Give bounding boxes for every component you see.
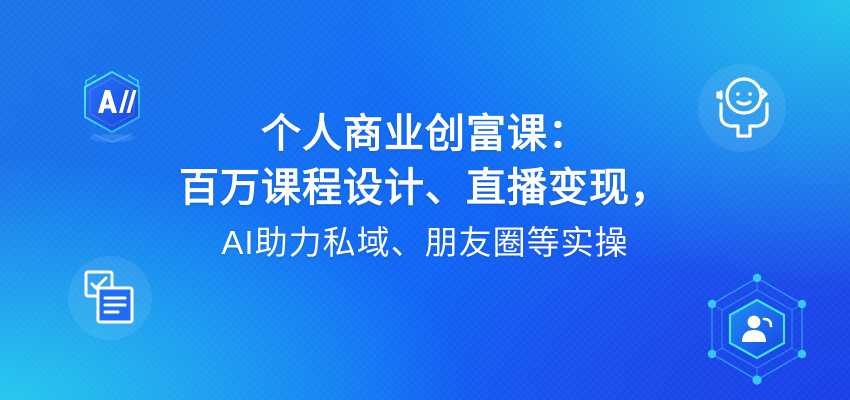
course-promo-banner: 个人商业创富课： 百万课程设计、直播变现， AI助力私域、朋友圈等实操 xyxy=(0,0,850,400)
headline-line-2: 百万课程设计、直播变现， xyxy=(0,160,850,216)
headline-block: 个人商业创富课： 百万课程设计、直播变现， AI助力私域、朋友圈等实操 xyxy=(0,108,850,270)
headline-line-1: 个人商业创富课： xyxy=(0,108,850,160)
user-network-hexagon-icon xyxy=(694,268,820,390)
headline-line-3: AI助力私域、朋友圈等实操 xyxy=(0,216,850,270)
user-network-hexagon xyxy=(694,268,820,390)
